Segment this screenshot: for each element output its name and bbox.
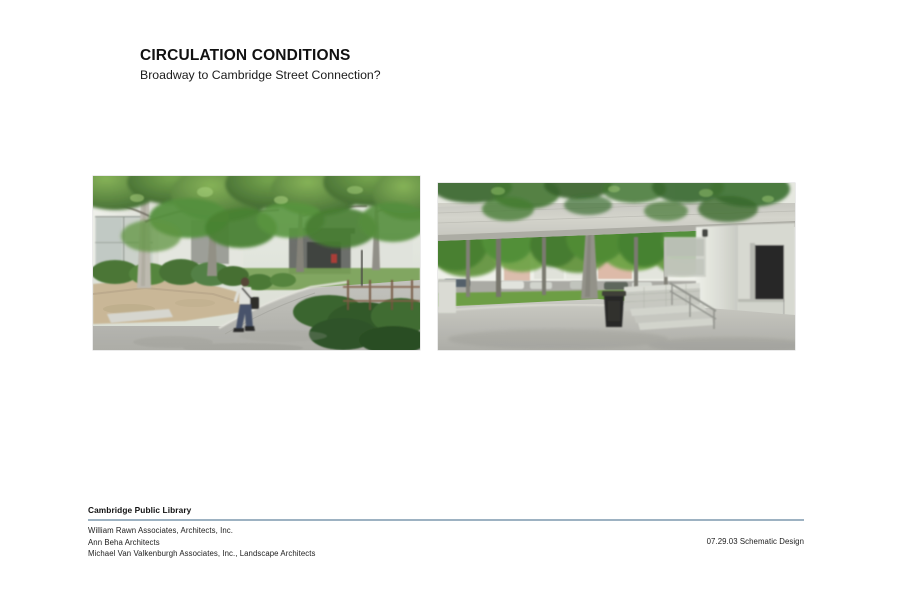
footer: Cambridge Public Library William Rawn As… <box>88 505 804 567</box>
list-item: William Rawn Associates, Architects, Inc… <box>88 525 315 537</box>
page-subtitle: Broadway to Cambridge Street Connection? <box>140 67 381 84</box>
photo-right-artwork <box>438 183 795 350</box>
page-title: CIRCULATION CONDITIONS <box>140 46 381 65</box>
list-item: Michael Van Valkenburgh Associates, Inc.… <box>88 548 315 560</box>
title-block: CIRCULATION CONDITIONS Broadway to Cambr… <box>140 46 381 84</box>
photo-pathway-to-building <box>93 176 420 350</box>
photo-left-artwork <box>93 176 420 350</box>
footer-divider <box>88 519 804 521</box>
footer-body: William Rawn Associates, Architects, Inc… <box>88 525 804 567</box>
footer-date-phase: 07.29.03 Schematic Design <box>707 537 804 546</box>
list-item: Ann Beha Architects <box>88 537 315 549</box>
footer-firm-list: William Rawn Associates, Architects, Inc… <box>88 525 315 560</box>
footer-client-name: Cambridge Public Library <box>88 505 804 516</box>
photo-underpass-plaza <box>438 183 795 350</box>
